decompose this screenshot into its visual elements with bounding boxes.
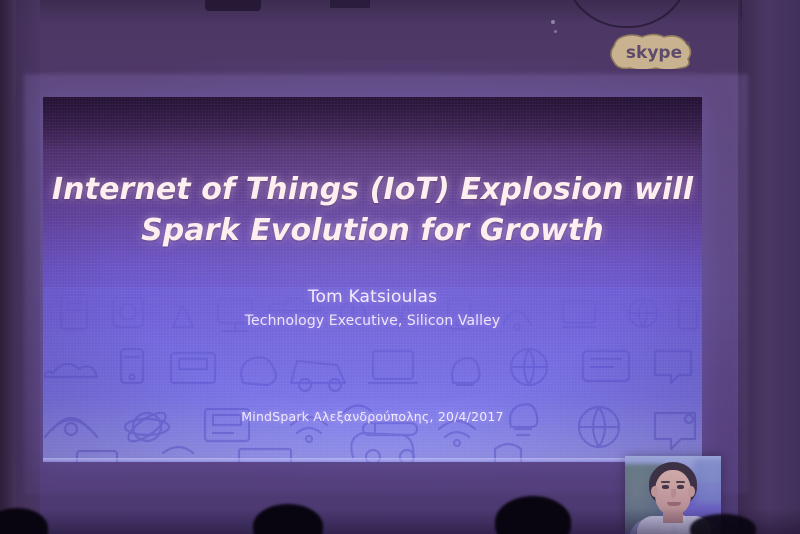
slide-title: Internet of Things (IoT) Explosion will … <box>43 169 702 251</box>
video-call-thumbnail[interactable] <box>625 456 721 534</box>
ceiling-band <box>0 0 800 22</box>
slide-title-line2: Spark Evolution for Growth <box>43 210 702 251</box>
presenter-name: Tom Katsioulas <box>43 287 702 307</box>
right-wall-pillar <box>742 0 800 534</box>
presenter-role: Technology Executive, Silicon Valley <box>43 313 702 329</box>
pip-eye-right <box>677 485 684 489</box>
pip-foliage-right <box>695 460 721 504</box>
ceiling-speck-b <box>554 30 557 33</box>
skype-wordmark: skype <box>626 43 682 63</box>
pip-eye-left <box>662 485 669 489</box>
event-and-date: MindSpark Αλεξανδρούπολης, 20/4/2017 <box>43 409 702 424</box>
slide-bottom-edge <box>43 458 702 462</box>
pip-ear-left <box>651 486 658 497</box>
slide-title-line1: Internet of Things (IoT) Explosion will <box>52 172 693 207</box>
pip-mouth <box>667 502 681 506</box>
ceiling-speck-a <box>551 20 555 24</box>
ceiling-fixture-left <box>205 0 261 11</box>
skype-logo: skype <box>608 33 700 69</box>
slide-text-layer: Internet of Things (IoT) Explosion will … <box>43 97 702 462</box>
projected-slide: Internet of Things (IoT) Explosion will … <box>43 97 702 462</box>
slide-inner: Internet of Things (IoT) Explosion will … <box>43 97 702 462</box>
pip-nose <box>671 489 676 498</box>
pip-ear-right <box>688 486 695 497</box>
left-wall-shadow <box>0 0 16 534</box>
ceiling-fixture-center <box>330 0 370 8</box>
presentation-photo-stage: Internet of Things (IoT) Explosion will … <box>0 0 800 534</box>
